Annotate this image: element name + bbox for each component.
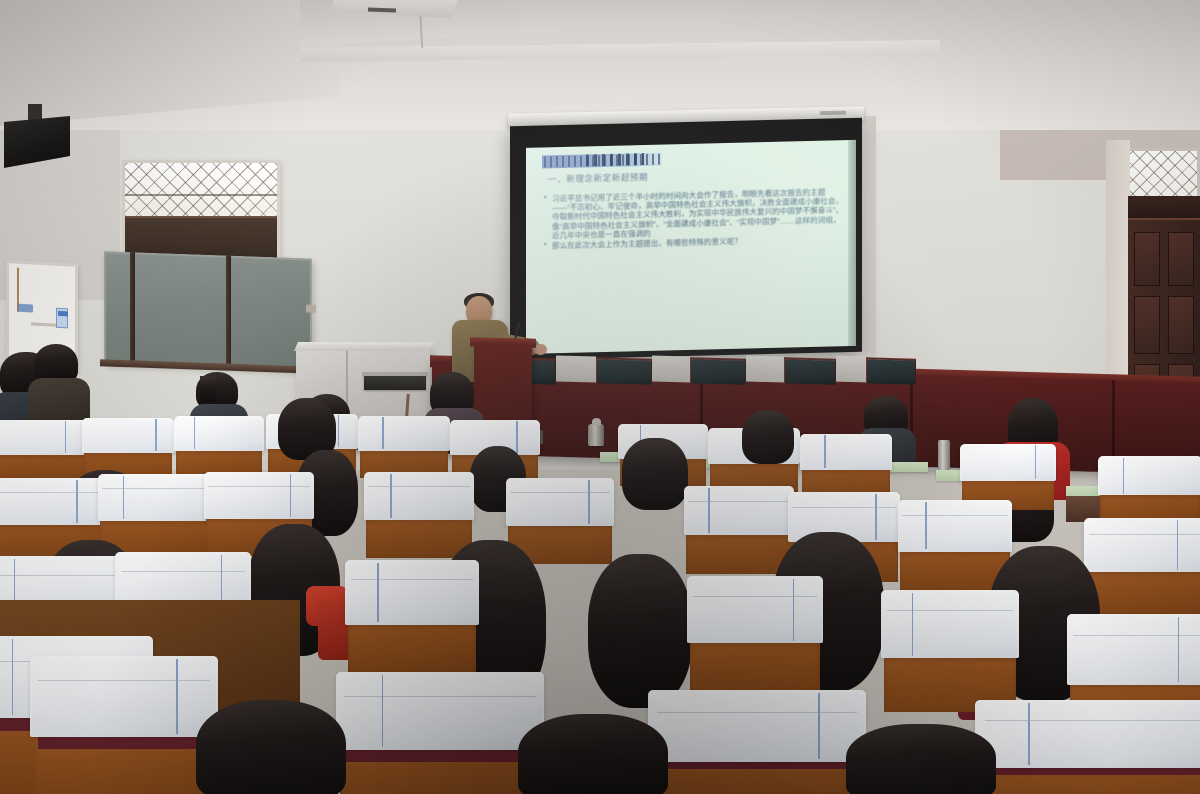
seat-cover bbox=[345, 560, 478, 625]
seat-cover bbox=[684, 486, 794, 535]
seat-piping bbox=[1123, 458, 1125, 494]
student-hair-long bbox=[588, 554, 692, 708]
window-mullion bbox=[125, 194, 277, 196]
door-panel bbox=[1168, 296, 1194, 354]
seat-cover bbox=[0, 478, 104, 525]
seat-cover bbox=[98, 474, 210, 521]
stage-chair bbox=[866, 357, 916, 384]
seat-cover bbox=[800, 434, 892, 470]
seat[interactable] bbox=[366, 472, 472, 558]
seat-cover-fold bbox=[208, 486, 309, 487]
seat-cover bbox=[30, 656, 217, 737]
seat-cover-fold bbox=[902, 515, 1007, 516]
seat-cover-fold bbox=[368, 486, 469, 487]
seat-piping bbox=[382, 417, 384, 449]
seat-cover-fold bbox=[0, 492, 100, 493]
seat[interactable] bbox=[0, 420, 86, 482]
chalkboard bbox=[104, 251, 312, 370]
slide-bullet-list: 习近平总书记用了近三个半小时的时间向大会作了报告，明眼先看这次报告的主题——“不… bbox=[544, 187, 846, 252]
seat-cover-fold bbox=[657, 712, 858, 713]
seat-cover bbox=[1067, 614, 1200, 685]
stage-chair-gap bbox=[652, 355, 690, 382]
seat-piping bbox=[912, 593, 914, 656]
stage-chair bbox=[784, 357, 836, 384]
seat-piping bbox=[793, 579, 795, 641]
student-hair-long bbox=[196, 700, 346, 794]
seat-cover-fold bbox=[344, 696, 535, 697]
seat-cover-fold bbox=[1073, 635, 1200, 636]
stage-chair-gap bbox=[836, 356, 866, 383]
seat-cover bbox=[960, 444, 1056, 481]
seat-cover bbox=[881, 590, 1018, 658]
seat-cover bbox=[898, 500, 1012, 552]
seat-piping bbox=[588, 480, 590, 524]
student-hair-long bbox=[518, 714, 668, 794]
seat-cover-fold bbox=[985, 720, 1200, 721]
door-panel bbox=[1168, 232, 1194, 286]
seat-cover-fold bbox=[121, 571, 245, 572]
seat[interactable] bbox=[652, 690, 862, 794]
seat-piping bbox=[290, 474, 292, 517]
console-device bbox=[364, 376, 426, 390]
seat-piping bbox=[1178, 617, 1180, 682]
seat-piping bbox=[382, 675, 384, 747]
seat[interactable] bbox=[348, 560, 476, 676]
seat-cover bbox=[687, 576, 822, 643]
notice-text-line bbox=[31, 322, 57, 326]
seat-piping bbox=[194, 417, 196, 449]
student-hair-long bbox=[846, 724, 996, 794]
seat[interactable] bbox=[690, 576, 820, 696]
seat-cover bbox=[82, 418, 174, 453]
slide-banner bbox=[542, 153, 662, 169]
wall-strip bbox=[860, 116, 876, 356]
seat-piping bbox=[925, 502, 927, 549]
stage-chair-gap bbox=[746, 355, 784, 382]
speaker-bracket bbox=[28, 104, 42, 120]
chalkboard-rail bbox=[226, 256, 231, 368]
seat[interactable] bbox=[340, 672, 540, 794]
stage-chair bbox=[690, 357, 746, 385]
vacuum-bottle bbox=[938, 440, 950, 470]
seat-piping bbox=[875, 494, 877, 540]
seat-piping bbox=[176, 659, 178, 734]
seat-cover bbox=[204, 472, 314, 519]
slide-heading: 一、新理念新定新超预期 bbox=[548, 171, 648, 185]
seat[interactable] bbox=[980, 700, 1200, 794]
seat-cover bbox=[506, 478, 614, 526]
chalkboard-clip bbox=[306, 304, 316, 312]
seat-cover bbox=[1098, 456, 1200, 495]
seat-cover-fold bbox=[688, 501, 789, 502]
slide-banner-figures-icon bbox=[586, 153, 644, 166]
seat-piping bbox=[390, 474, 392, 518]
stage-chair bbox=[596, 357, 652, 385]
lecture-hall-photo: 一、新理念新定新超预期 习近平总书记用了近三个半小时的时间向大会作了报告，明眼先… bbox=[0, 0, 1200, 794]
teapot bbox=[588, 424, 604, 446]
seat-cover-fold bbox=[351, 579, 473, 580]
seat-cover-fold bbox=[887, 610, 1013, 611]
seat-piping bbox=[155, 419, 157, 451]
seat-piping bbox=[818, 693, 820, 759]
student-head bbox=[742, 410, 794, 464]
seat-cover-fold bbox=[510, 492, 610, 493]
console-cable bbox=[405, 394, 410, 416]
left-window bbox=[122, 160, 280, 268]
seat-piping bbox=[123, 476, 125, 519]
seat-piping bbox=[1028, 703, 1030, 766]
door-panel bbox=[1134, 232, 1160, 286]
student-head bbox=[622, 438, 688, 510]
slide-bullet: 习近平总书记用了近三个半小时的时间向大会作了报告，明眼先看这次报告的主题——“不… bbox=[544, 187, 846, 240]
seat-piping bbox=[12, 639, 14, 715]
console-top bbox=[294, 342, 434, 351]
projected-slide: 一、新理念新定新超预期 习近平总书记用了近三个半小时的时间向大会作了报告，明眼先… bbox=[526, 140, 856, 354]
seat-piping bbox=[76, 480, 78, 523]
seat[interactable] bbox=[1086, 518, 1200, 614]
screen-edge-shade bbox=[848, 140, 856, 346]
seat-cover bbox=[358, 416, 450, 451]
seat[interactable] bbox=[1100, 456, 1200, 526]
notice-poster-small bbox=[56, 308, 68, 329]
door-transom-frame bbox=[1128, 196, 1200, 218]
seat-cover-fold bbox=[792, 507, 895, 508]
seat-piping bbox=[338, 415, 340, 447]
seat[interactable] bbox=[34, 656, 214, 794]
seat-piping bbox=[516, 421, 518, 453]
screen-brand-label bbox=[820, 111, 846, 116]
seat-cover bbox=[364, 472, 474, 520]
seat[interactable] bbox=[802, 434, 890, 498]
seat-piping bbox=[708, 488, 710, 533]
chalkboard-rail bbox=[130, 252, 135, 364]
seat[interactable] bbox=[176, 416, 262, 478]
seat-cover bbox=[336, 672, 544, 750]
seat[interactable] bbox=[900, 500, 1010, 592]
seat-cover-fold bbox=[38, 680, 210, 681]
door-panel bbox=[1134, 296, 1160, 354]
seat-piping bbox=[377, 563, 379, 623]
notice-label-blue bbox=[18, 304, 33, 313]
seat-piping bbox=[65, 421, 67, 453]
seat-cover-fold bbox=[0, 575, 115, 576]
audience-head bbox=[200, 376, 216, 402]
seat[interactable] bbox=[884, 590, 1016, 712]
window-grille-icon bbox=[125, 163, 277, 216]
seat[interactable] bbox=[360, 416, 448, 478]
stage-chair-gap bbox=[556, 355, 596, 382]
seat-cover bbox=[0, 420, 88, 455]
teapot-lid bbox=[592, 418, 601, 425]
seat-cover bbox=[975, 700, 1200, 768]
seat-cover bbox=[1084, 518, 1200, 572]
seat-cover-fold bbox=[693, 596, 817, 597]
seat-piping bbox=[1035, 445, 1037, 479]
seat-piping bbox=[1177, 520, 1179, 569]
seat-piping bbox=[824, 435, 826, 468]
seat[interactable] bbox=[686, 486, 792, 574]
seat-cover-fold bbox=[1089, 534, 1200, 535]
seat-cover bbox=[648, 690, 866, 762]
seat-cover-fold bbox=[102, 488, 205, 489]
seat-cover bbox=[174, 416, 263, 451]
projection-screen: 一、新理念新定新超预期 习近平总书记用了近三个半小时的时间向大会作了报告，明眼先… bbox=[510, 118, 862, 361]
